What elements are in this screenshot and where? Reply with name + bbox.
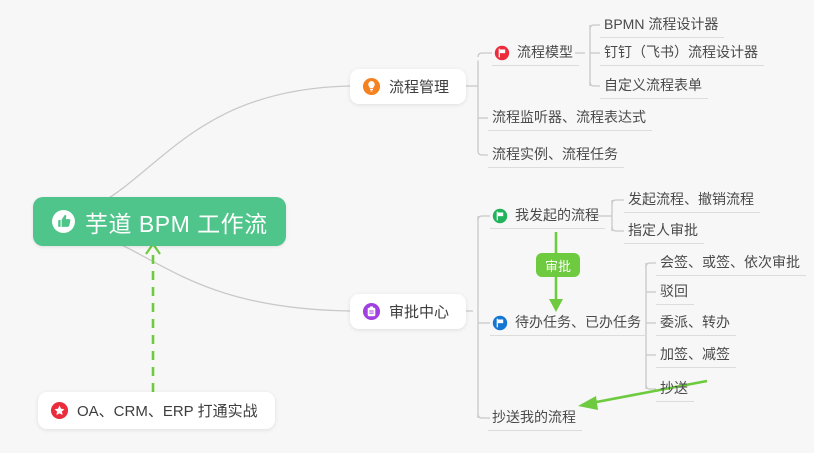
node-add-remove-sign[interactable]: 加签、减签 xyxy=(656,341,736,368)
star-icon xyxy=(50,401,69,420)
node-start-cancel-process[interactable]: 发起流程、撤销流程 xyxy=(624,186,760,213)
node-carbon-copy[interactable]: 抄送 xyxy=(656,375,694,402)
node-process-listener[interactable]: 流程监听器、流程表达式 xyxy=(488,104,652,131)
flag-icon xyxy=(492,208,508,224)
link-todo-to-countersign xyxy=(646,263,656,267)
mindmap-canvas: 芋道 BPM 工作流 流程管理 流程模型 BPMN 流程设计器 钉钉（飞书）流程 xyxy=(0,0,814,453)
node-my-started-processes[interactable]: 我发起的流程 xyxy=(490,202,605,229)
approve-badge-label: 审批 xyxy=(545,256,571,275)
node-label: 抄送我的流程 xyxy=(492,407,576,427)
thumbs-up-icon xyxy=(51,209,76,234)
node-assignee-approval[interactable]: 指定人审批 xyxy=(624,217,704,244)
node-process-instance[interactable]: 流程实例、流程任务 xyxy=(488,141,624,168)
branch-label: 流程管理 xyxy=(389,76,449,97)
link-model-to-bpmn xyxy=(590,25,600,29)
dashed-arrow-note-to-root xyxy=(146,244,160,392)
branch-approval-center[interactable]: 审批中心 xyxy=(350,294,466,329)
node-label: 会签、或签、依次审批 xyxy=(660,252,800,272)
node-process-model[interactable]: 流程模型 xyxy=(492,39,579,66)
node-dingtalk-designer[interactable]: 钉钉（飞书）流程设计器 xyxy=(600,39,764,66)
root-node[interactable]: 芋道 BPM 工作流 xyxy=(33,197,286,246)
note-integration-practice[interactable]: OA、CRM、ERP 打通实战 xyxy=(38,392,275,429)
link-mine-to-start xyxy=(612,200,624,204)
link-pm-to-instance xyxy=(478,151,488,155)
node-countersign[interactable]: 会签、或签、依次审批 xyxy=(656,249,806,276)
node-label: 流程模型 xyxy=(517,42,573,62)
node-label: BPMN 流程设计器 xyxy=(604,14,718,34)
lightbulb-icon xyxy=(362,77,381,96)
note-label: OA、CRM、ERP 打通实战 xyxy=(77,400,258,421)
node-label: 自定义流程表单 xyxy=(604,75,702,95)
link-todo-to-cc xyxy=(646,385,656,389)
node-reject[interactable]: 驳回 xyxy=(656,278,694,305)
clipboard-icon xyxy=(362,302,381,321)
node-label: 加签、减签 xyxy=(660,344,730,364)
node-label: 驳回 xyxy=(660,281,688,301)
link-ac-to-mine xyxy=(478,216,490,220)
node-label: 钉钉（飞书）流程设计器 xyxy=(604,42,758,62)
link-mine-to-assign xyxy=(612,227,624,231)
link-pm-to-model xyxy=(478,53,492,57)
node-label: 流程监听器、流程表达式 xyxy=(492,107,646,127)
node-label: 待办任务、已办任务 xyxy=(515,312,641,332)
root-label: 芋道 BPM 工作流 xyxy=(85,205,268,239)
flag-icon xyxy=(494,45,510,61)
node-label: 抄送 xyxy=(660,378,688,398)
node-label: 我发起的流程 xyxy=(515,205,599,225)
branch-label: 审批中心 xyxy=(389,301,449,322)
node-label: 流程实例、流程任务 xyxy=(492,144,618,164)
node-label: 发起流程、撤销流程 xyxy=(628,189,754,209)
node-todo-done-tasks[interactable]: 待办任务、已办任务 xyxy=(490,309,647,336)
approve-badge: 审批 xyxy=(536,253,580,277)
node-delegate-transfer[interactable]: 委派、转办 xyxy=(656,309,736,336)
node-cc-to-me[interactable]: 抄送我的流程 xyxy=(488,404,582,431)
node-bpmn-designer[interactable]: BPMN 流程设计器 xyxy=(600,11,724,38)
flag-icon xyxy=(492,315,508,331)
node-label: 指定人审批 xyxy=(628,220,698,240)
node-custom-form[interactable]: 自定义流程表单 xyxy=(600,72,708,99)
node-label: 委派、转办 xyxy=(660,312,730,332)
branch-process-management[interactable]: 流程管理 xyxy=(350,69,466,104)
link-model-to-form xyxy=(590,82,600,86)
